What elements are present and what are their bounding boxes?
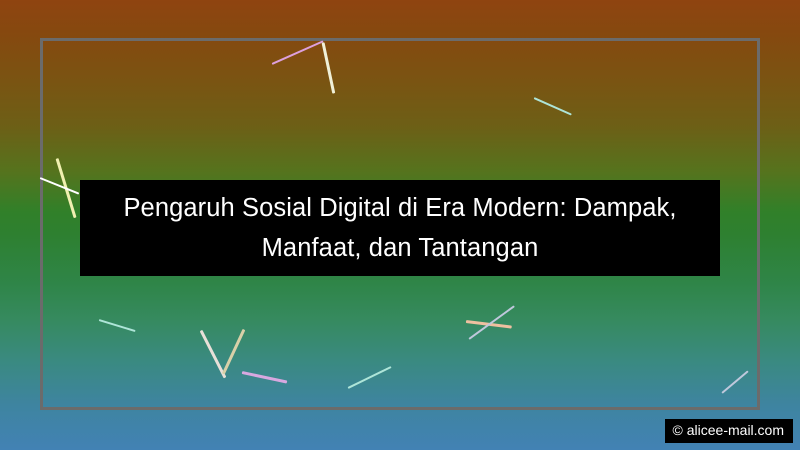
watermark-label: © alicee-mail.com xyxy=(665,419,793,443)
title-card-image: Pengaruh Sosial Digital di Era Modern: D… xyxy=(0,0,800,450)
page-title: Pengaruh Sosial Digital di Era Modern: D… xyxy=(88,188,712,268)
title-banner: Pengaruh Sosial Digital di Era Modern: D… xyxy=(80,180,720,276)
